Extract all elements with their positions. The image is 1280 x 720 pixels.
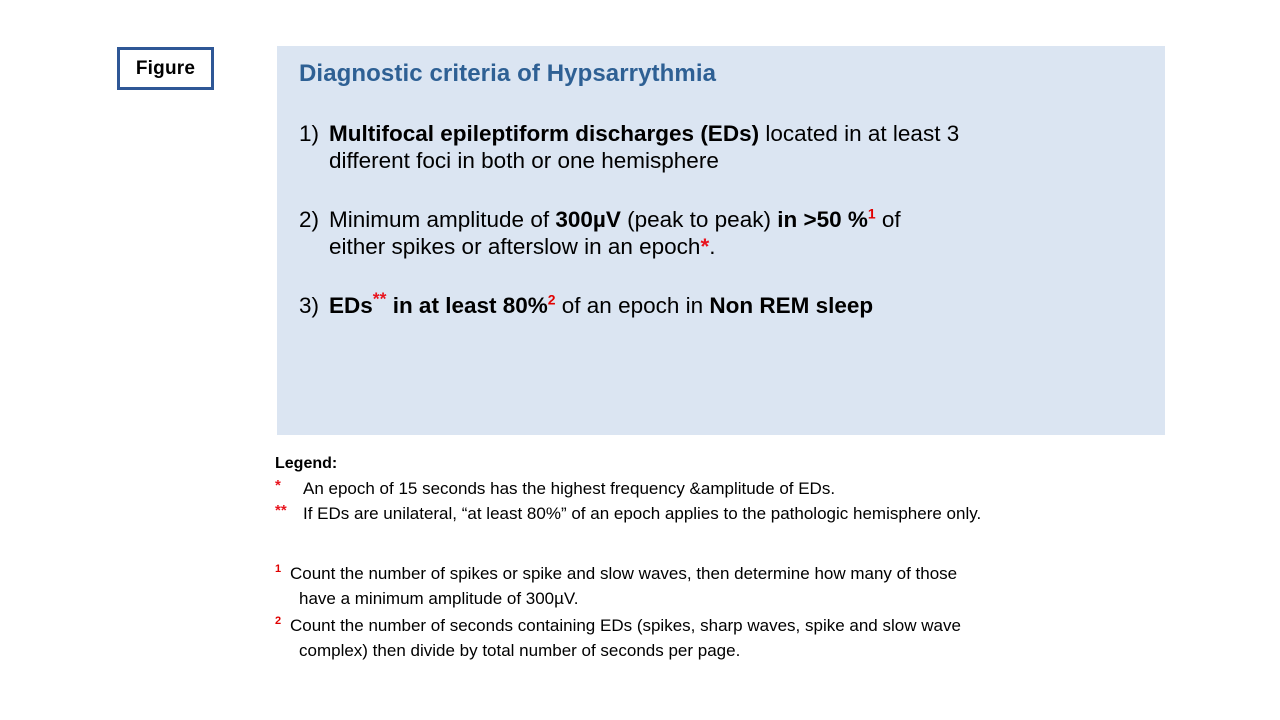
panel-title: Diagnostic criteria of Hypsarrythmia	[289, 60, 1143, 88]
criteria-item-1: 1) Multifocal epileptiform discharges (E…	[289, 121, 1143, 174]
footnote-1-line1: Count the number of spikes or spike and …	[290, 564, 957, 583]
criteria-body-2: Minimum amplitude of 300µV (peak to peak…	[329, 207, 1143, 260]
criteria-marker-3: 3)	[299, 293, 329, 320]
criteria-marker-1: 1)	[299, 121, 329, 148]
criteria-2-line2-post: .	[709, 234, 715, 259]
criteria-body-1: Multifocal epileptiform discharges (EDs)…	[329, 121, 1143, 174]
footnote-2-line1: Count the number of seconds containing E…	[290, 616, 961, 635]
criteria-item-2: 2) Minimum amplitude of 300µV (peak to p…	[289, 207, 1143, 260]
criteria-3-mid: of an epoch in	[556, 293, 710, 318]
footnote-2-line2: complex) then divide by total number of …	[290, 639, 1215, 664]
legend-row-double-asterisk: ** If EDs are unilateral, “at least 80%”…	[275, 502, 1205, 527]
legend-mark-double-asterisk-icon: **	[275, 502, 303, 520]
criteria-3-double-asterisk: **	[373, 289, 387, 309]
criteria-3-superscript-2: 2	[548, 292, 556, 308]
legend-text-2: If EDs are unilateral, “at least 80%” of…	[303, 502, 1205, 527]
criteria-1-line2: different foci in both or one hemisphere	[329, 148, 719, 173]
legend-block: Legend: * An epoch of 15 seconds has the…	[275, 455, 1205, 526]
criteria-item-3: 3) EDs** in at least 80%2 of an epoch in…	[289, 293, 1143, 320]
criteria-2-amplitude: 300µV	[555, 207, 621, 232]
footnote-1-line2: have a minimum amplitude of 300µV.	[290, 587, 1215, 612]
criteria-2-percent: in >50 %	[777, 207, 868, 232]
footnotes-block: 1 Count the number of spikes or spike an…	[275, 562, 1215, 666]
figure-label-text: Figure	[136, 58, 195, 80]
criteria-2-line2-pre: either spikes or afterslow in an epoch	[329, 234, 700, 259]
legend-title: Legend:	[275, 455, 1205, 473]
criteria-2-superscript-1: 1	[868, 206, 876, 222]
criteria-1-rest: located in at least 3	[759, 121, 959, 146]
footnote-2-text: Count the number of seconds containing E…	[287, 614, 1215, 664]
criteria-marker-2: 2)	[299, 207, 329, 234]
legend-mark-asterisk-icon: *	[275, 477, 303, 495]
criteria-3-sleep: Non REM sleep	[709, 293, 873, 318]
criteria-3-eds: EDs	[329, 293, 373, 318]
diagnostic-criteria-panel: Diagnostic criteria of Hypsarrythmia 1) …	[277, 46, 1165, 435]
criteria-2-asterisk: *	[700, 234, 709, 259]
criteria-2-tail: of	[876, 207, 901, 232]
footnote-1-marker: 1	[275, 562, 287, 575]
figure-label-box: Figure	[117, 47, 214, 90]
criteria-3-percent: in at least 80%	[386, 293, 547, 318]
footnote-2: 2 Count the number of seconds containing…	[275, 614, 1215, 664]
criteria-2-mid: (peak to peak)	[621, 207, 777, 232]
criteria-2-lead: Minimum amplitude of	[329, 207, 555, 232]
criteria-1-bold-lead: Multifocal epileptiform discharges (EDs)	[329, 121, 759, 146]
criteria-body-3: EDs** in at least 80%2 of an epoch in No…	[329, 293, 1143, 320]
legend-row-single-asterisk: * An epoch of 15 seconds has the highest…	[275, 477, 1205, 502]
criteria-list: 1) Multifocal epileptiform discharges (E…	[289, 121, 1143, 320]
legend-text-1: An epoch of 15 seconds has the highest f…	[303, 477, 1205, 502]
footnote-1-text: Count the number of spikes or spike and …	[287, 562, 1215, 612]
footnote-2-marker: 2	[275, 614, 287, 627]
footnote-1: 1 Count the number of spikes or spike an…	[275, 562, 1215, 612]
